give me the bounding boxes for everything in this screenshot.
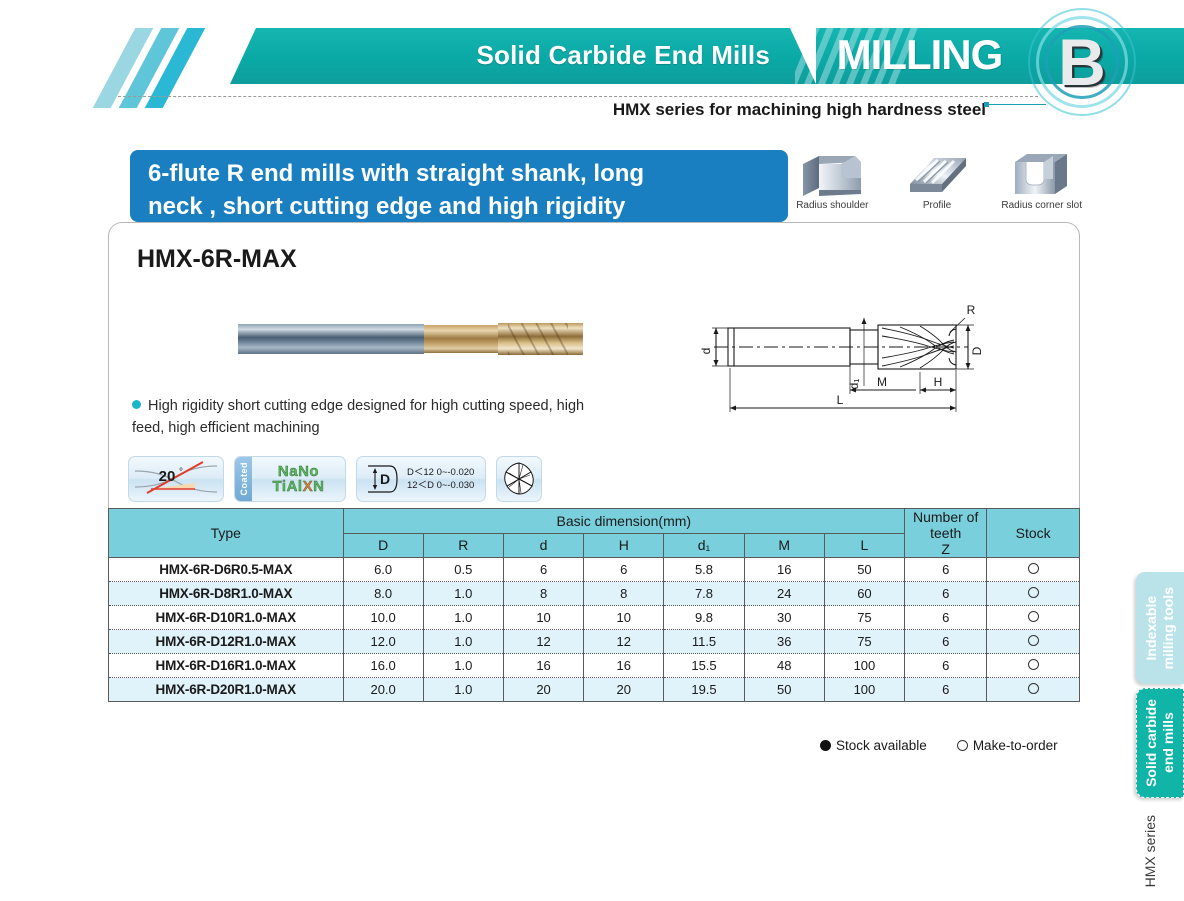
col-teeth-line3: Z	[905, 541, 986, 557]
cell-M: 36	[744, 630, 824, 654]
helix-degree-symbol: °	[179, 467, 183, 478]
diameter-tolerance-icon: D D＜12 0~-0.020 12＜D 0~-0.030	[356, 456, 486, 502]
series-label-text: HMX series	[1142, 815, 1158, 887]
col-D: D	[343, 533, 423, 558]
cell-M: 50	[744, 678, 824, 702]
product-banner-line1: 6-flute R end mills with straight shank,…	[148, 157, 770, 190]
section-letter: B	[1052, 20, 1112, 104]
sidebar-tab-line2: end mills	[1160, 713, 1176, 774]
cell-D: 12.0	[343, 630, 423, 654]
cell-type: HMX-6R-D6R0.5-MAX	[109, 558, 344, 582]
cell-d1: 19.5	[664, 678, 744, 702]
profile-icon	[897, 148, 978, 200]
coating-line2-post: N	[313, 478, 324, 495]
page-title: Solid Carbide End Mills	[380, 40, 770, 71]
radius-shoulder-icon	[792, 148, 873, 200]
drawing-label-D: D	[970, 346, 984, 355]
application-profile: Profile	[897, 148, 978, 224]
cell-d1: 7.8	[664, 582, 744, 606]
cell-stock	[987, 558, 1080, 582]
cell-d1: 5.8	[664, 558, 744, 582]
drawing-label-M: M	[877, 375, 887, 389]
drawing-label-d1: d₁	[847, 379, 861, 390]
cell-stock	[987, 582, 1080, 606]
cell-D: 20.0	[343, 678, 423, 702]
cell-d: 10	[503, 606, 583, 630]
cell-R: 1.0	[423, 654, 503, 678]
cell-stock	[987, 654, 1080, 678]
cell-R: 1.0	[423, 678, 503, 702]
specification-table: Type Basic dimension(mm) Number of teeth…	[108, 508, 1080, 702]
cell-H: 16	[584, 654, 664, 678]
cell-Z: 6	[905, 630, 987, 654]
bullet-text: High rigidity short cutting edge designe…	[132, 398, 584, 436]
hollow-circle-icon	[957, 740, 968, 751]
legend-make-to-order: Make-to-order	[957, 738, 1058, 753]
cell-M: 30	[744, 606, 824, 630]
col-stock: Stock	[987, 509, 1080, 558]
col-d: d	[503, 533, 583, 558]
cell-type: HMX-6R-D20R1.0-MAX	[109, 678, 344, 702]
cell-L: 75	[824, 606, 904, 630]
cell-H: 12	[584, 630, 664, 654]
cell-type: HMX-6R-D8R1.0-MAX	[109, 582, 344, 606]
col-d1: d₁	[664, 533, 744, 558]
coating-line2-x: X	[303, 478, 314, 495]
cell-D: 8.0	[343, 582, 423, 606]
sidebar-tab-indexable-milling-tools[interactable]: Indexable milling tools	[1136, 572, 1184, 684]
application-radius-corner-slot: Radius corner slot	[1001, 148, 1082, 224]
product-description-banner: 6-flute R end mills with straight shank,…	[130, 150, 788, 222]
cell-R: 1.0	[423, 606, 503, 630]
table-row: HMX-6R-D6R0.5-MAX6.00.5665.816506	[109, 558, 1080, 582]
section-word: MILLING	[812, 28, 1027, 84]
hollow-circle-icon	[1028, 587, 1039, 598]
subtitle-leader-line	[988, 104, 1046, 105]
col-teeth-line1: Number of	[905, 509, 986, 525]
table-body: HMX-6R-D6R0.5-MAX6.00.5665.816506HMX-6R-…	[109, 558, 1080, 702]
cell-type: HMX-6R-D16R1.0-MAX	[109, 654, 344, 678]
application-radius-shoulder: Radius shoulder	[792, 148, 873, 224]
section-letter-badge: B	[1028, 8, 1136, 116]
coated-side-label: Coated	[235, 457, 252, 501]
hollow-circle-icon	[1028, 563, 1039, 574]
filled-circle-icon	[820, 740, 831, 751]
table-header-row-1: Type Basic dimension(mm) Number of teeth…	[109, 509, 1080, 534]
cell-L: 100	[824, 654, 904, 678]
coating-name: NaNo TiAlXN	[252, 464, 345, 494]
col-H: H	[584, 533, 664, 558]
table-row: HMX-6R-D12R1.0-MAX12.01.0121211.536756	[109, 630, 1080, 654]
application-icons: Radius shoulder Profile	[792, 148, 1082, 224]
cell-M: 48	[744, 654, 824, 678]
cell-type: HMX-6R-D12R1.0-MAX	[109, 630, 344, 654]
cell-stock	[987, 606, 1080, 630]
table-row: HMX-6R-D20R1.0-MAX20.01.0202019.5501006	[109, 678, 1080, 702]
cell-L: 60	[824, 582, 904, 606]
cell-R: 1.0	[423, 582, 503, 606]
cell-d: 8	[503, 582, 583, 606]
cell-d1: 11.5	[664, 630, 744, 654]
photo-neck	[424, 325, 498, 353]
tolerance-symbol-icon: D	[364, 460, 400, 498]
cell-H: 20	[584, 678, 664, 702]
table-header: Type Basic dimension(mm) Number of teeth…	[109, 509, 1080, 558]
cell-L: 100	[824, 678, 904, 702]
legend-stock-available-label: Stock available	[836, 738, 927, 753]
bullet-dot-icon	[132, 400, 141, 409]
radius-corner-slot-icon	[1001, 148, 1082, 200]
sidebar-tab-label: Solid carbide end mills	[1143, 699, 1177, 787]
coated-text: Coated	[239, 462, 249, 496]
tolerance-line1: D＜12 0~-0.020	[407, 466, 474, 479]
cell-Z: 6	[905, 582, 987, 606]
helix-angle-value: 20	[159, 468, 176, 485]
col-teeth-line2: teeth	[905, 525, 986, 541]
drawing-label-L: L	[837, 393, 844, 407]
cell-Z: 6	[905, 558, 987, 582]
coating-icon: Coated NaNo TiAlXN	[234, 456, 346, 502]
cell-R: 0.5	[423, 558, 503, 582]
table-row: HMX-6R-D10R1.0-MAX10.01.010109.830756	[109, 606, 1080, 630]
product-photo	[238, 320, 583, 358]
coating-line1: NaNo	[278, 464, 319, 479]
cell-R: 1.0	[423, 630, 503, 654]
hollow-circle-icon	[1028, 611, 1039, 622]
cell-M: 16	[744, 558, 824, 582]
sidebar-tab-label: Indexable milling tools	[1143, 587, 1177, 669]
application-label: Profile	[897, 200, 978, 211]
cell-D: 16.0	[343, 654, 423, 678]
header-bar-notch	[230, 28, 256, 84]
coating-line2-pre: TiAl	[273, 478, 303, 495]
six-flute-end-view-icon	[496, 456, 542, 502]
svg-text:D: D	[380, 471, 390, 487]
product-feature-bullet: High rigidity short cutting edge designe…	[132, 395, 602, 439]
cell-d1: 15.5	[664, 654, 744, 678]
cell-d: 6	[503, 558, 583, 582]
legend-stock-available: Stock available	[820, 738, 927, 753]
drawing-label-H: H	[934, 375, 943, 389]
product-model-title: HMX-6R-MAX	[137, 245, 297, 274]
cell-stock	[987, 678, 1080, 702]
col-teeth: Number of teeth Z	[905, 509, 987, 558]
hollow-circle-icon	[1028, 683, 1039, 694]
cell-Z: 6	[905, 678, 987, 702]
tolerance-line2: 12＜D 0~-0.030	[407, 479, 474, 492]
cell-D: 10.0	[343, 606, 423, 630]
col-basic-dimension: Basic dimension(mm)	[343, 509, 905, 534]
stock-legend: Stock available Make-to-order	[820, 738, 1058, 753]
col-type: Type	[109, 509, 344, 558]
drawing-label-R: R	[967, 303, 976, 317]
helix-angle-icon: 20 °	[128, 456, 224, 502]
table-row: HMX-6R-D8R1.0-MAX8.01.0887.824606	[109, 582, 1080, 606]
technical-drawing: d D d₁ H M L R	[668, 292, 1028, 422]
cell-type: HMX-6R-D10R1.0-MAX	[109, 606, 344, 630]
cell-M: 24	[744, 582, 824, 606]
sidebar-tab-line2: milling tools	[1160, 587, 1176, 669]
coating-line2: TiAlXN	[273, 479, 325, 494]
product-banner-line2: neck , short cutting edge and high rigid…	[148, 190, 770, 223]
hollow-circle-icon	[1028, 659, 1039, 670]
cell-L: 50	[824, 558, 904, 582]
cell-Z: 6	[905, 606, 987, 630]
cell-stock	[987, 630, 1080, 654]
photo-flutes	[498, 323, 583, 355]
table-row: HMX-6R-D16R1.0-MAX16.01.0161615.5481006	[109, 654, 1080, 678]
cell-Z: 6	[905, 654, 987, 678]
sidebar-tab-line1: Indexable	[1143, 596, 1159, 661]
col-M: M	[744, 533, 824, 558]
sidebar-tab-solid-carbide-end-mills[interactable]: Solid carbide end mills	[1136, 688, 1184, 798]
cell-d: 16	[503, 654, 583, 678]
cell-L: 75	[824, 630, 904, 654]
sidebar-tab-line1: Solid carbide	[1143, 699, 1159, 787]
application-label: Radius shoulder	[792, 200, 873, 211]
cell-d1: 9.8	[664, 606, 744, 630]
page-header: Solid Carbide End Mills MILLING B HMX se…	[0, 0, 1184, 130]
col-R: R	[423, 533, 503, 558]
cell-H: 8	[584, 582, 664, 606]
cell-H: 10	[584, 606, 664, 630]
hollow-circle-icon	[1028, 635, 1039, 646]
photo-shank	[238, 324, 424, 354]
legend-make-to-order-label: Make-to-order	[973, 738, 1058, 753]
cell-H: 6	[584, 558, 664, 582]
feature-icons: 20 ° Coated NaNo TiAlXN D D＜12 0~-0.020 …	[128, 456, 542, 502]
col-L: L	[824, 533, 904, 558]
application-label: Radius corner slot	[1001, 200, 1082, 211]
cell-d: 20	[503, 678, 583, 702]
sidebar-series-label: HMX series	[1142, 815, 1178, 887]
cell-d: 12	[503, 630, 583, 654]
drawing-label-d: d	[699, 348, 713, 355]
cell-D: 6.0	[343, 558, 423, 582]
header-subtitle: HMX series for machining high hardness s…	[118, 96, 986, 120]
